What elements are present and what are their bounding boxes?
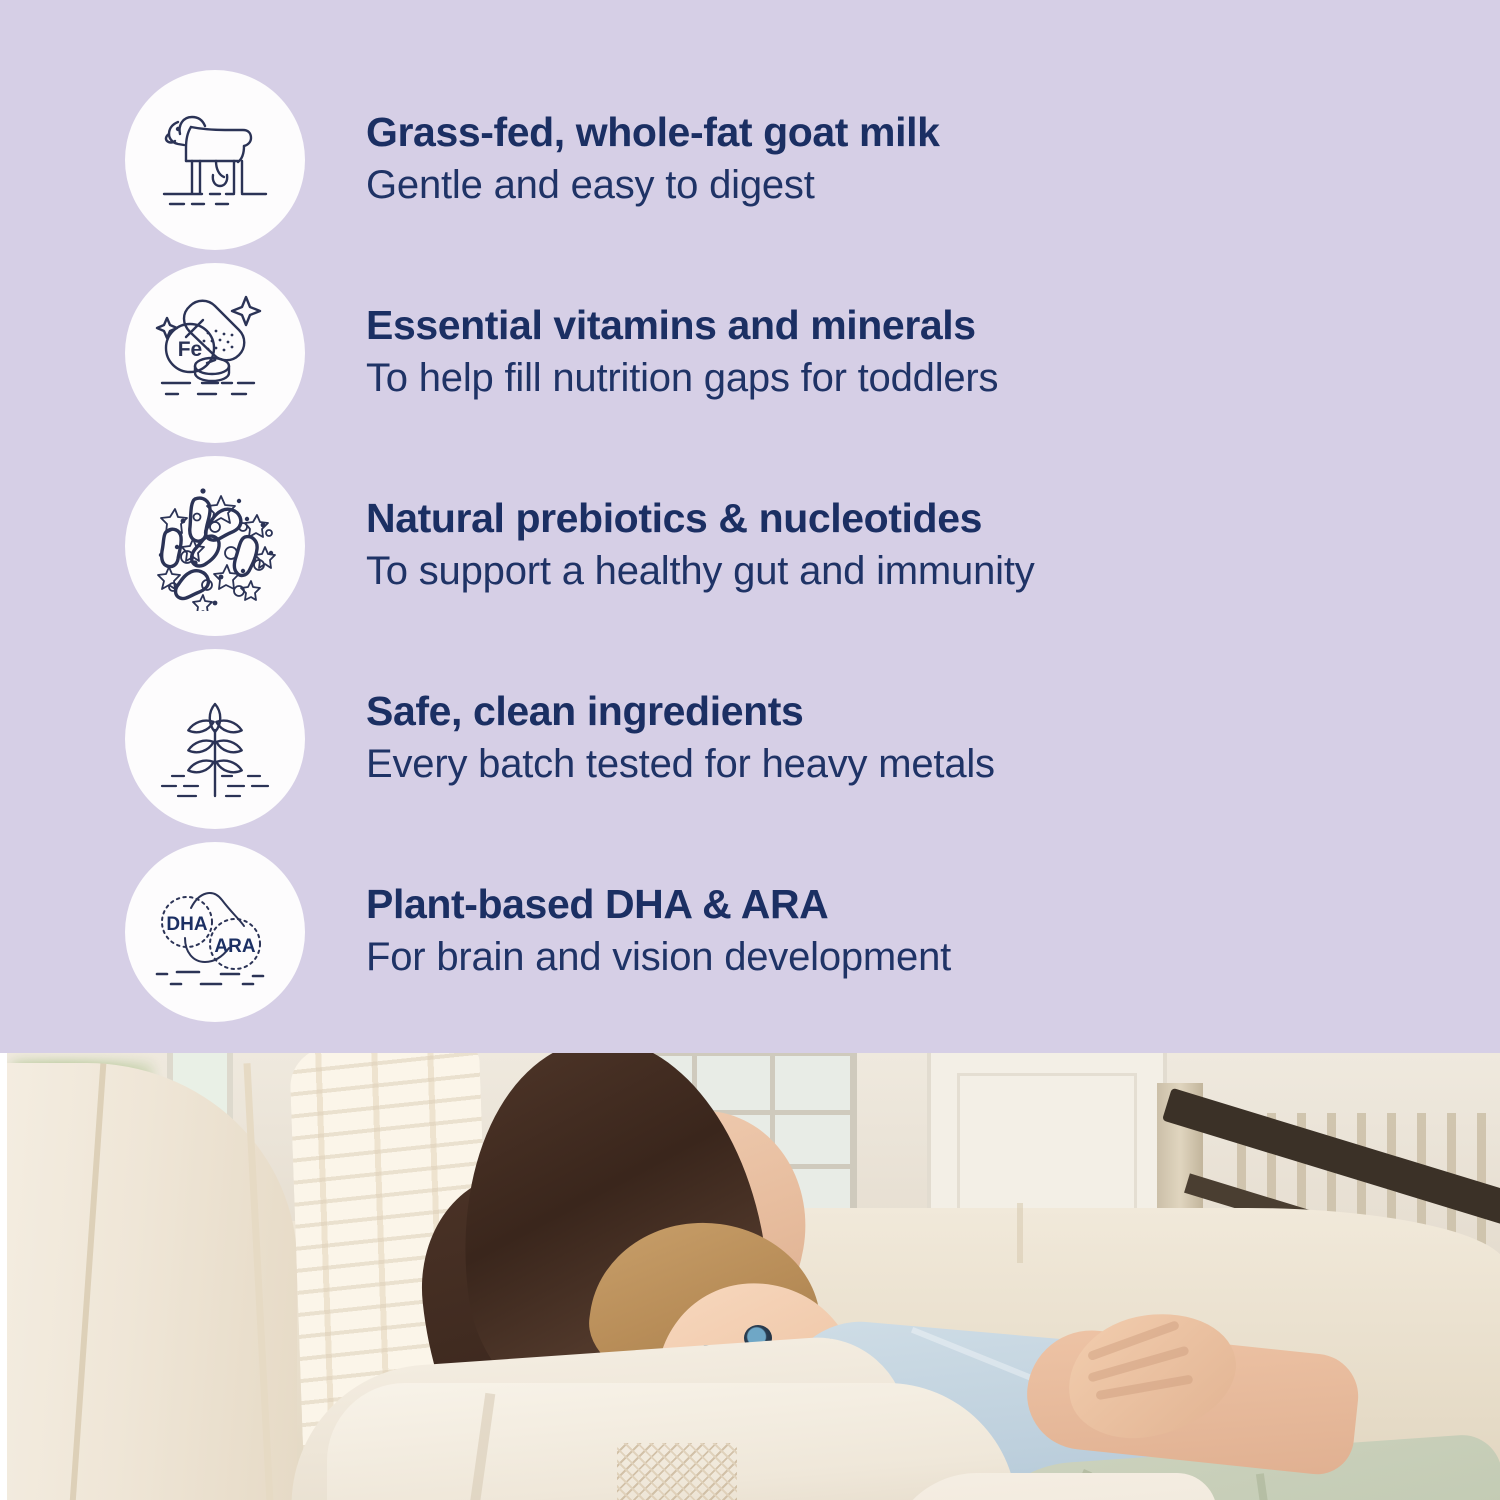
benefit-row: DHA ARA Plant-based DHA & ARA For brain … [125,842,1465,1022]
benefit-text: Grass-fed, whole-fat goat milk Gentle an… [366,110,940,209]
benefit-row: Natural prebiotics & nucleotides To supp… [125,456,1465,636]
dha-label: DHA [166,914,207,935]
benefit-subtitle: For brain and vision development [366,934,951,981]
mother-and-toddler-photo [7,1053,1500,1500]
benefit-row: Safe, clean ingredients Every batch test… [125,649,1465,829]
benefits-panel: Grass-fed, whole-fat goat milk Gentle an… [0,0,1500,1053]
prebiotics-bacteria-icon [125,456,305,636]
benefit-subtitle: Gentle and easy to digest [366,162,940,209]
lifestyle-photo-band [0,1053,1500,1500]
benefit-subtitle: To help fill nutrition gaps for toddlers [366,355,998,402]
benefit-text: Essential vitamins and minerals To help … [366,303,998,402]
wheat-stalk-icon [125,649,305,829]
sofa-arm [7,1063,297,1500]
benefit-title: Safe, clean ingredients [366,689,995,735]
benefit-text: Plant-based DHA & ARA For brain and visi… [366,882,951,981]
benefit-row: Fe Essential vitamins and minerals To he… [125,263,1465,443]
vitamins-minerals-icon: Fe [125,263,305,443]
goat-icon [125,70,305,250]
sofa-seam [1017,1203,1023,1263]
benefit-subtitle: To support a healthy gut and immunity [366,548,1035,595]
ara-label: ARA [214,936,255,957]
benefit-text: Natural prebiotics & nucleotides To supp… [366,496,1035,595]
benefit-title: Grass-fed, whole-fat goat milk [366,110,940,156]
benefit-title: Essential vitamins and minerals [366,303,998,349]
benefit-title: Plant-based DHA & ARA [366,882,951,928]
benefit-title: Natural prebiotics & nucleotides [366,496,1035,542]
lace-pocket-detail [617,1443,737,1500]
benefit-subtitle: Every batch tested for heavy metals [366,741,995,788]
svg-text:Fe: Fe [178,338,203,361]
benefit-text: Safe, clean ingredients Every batch test… [366,689,995,788]
dha-ara-molecule-icon: DHA ARA [125,842,305,1022]
benefit-row: Grass-fed, whole-fat goat milk Gentle an… [125,70,1465,250]
